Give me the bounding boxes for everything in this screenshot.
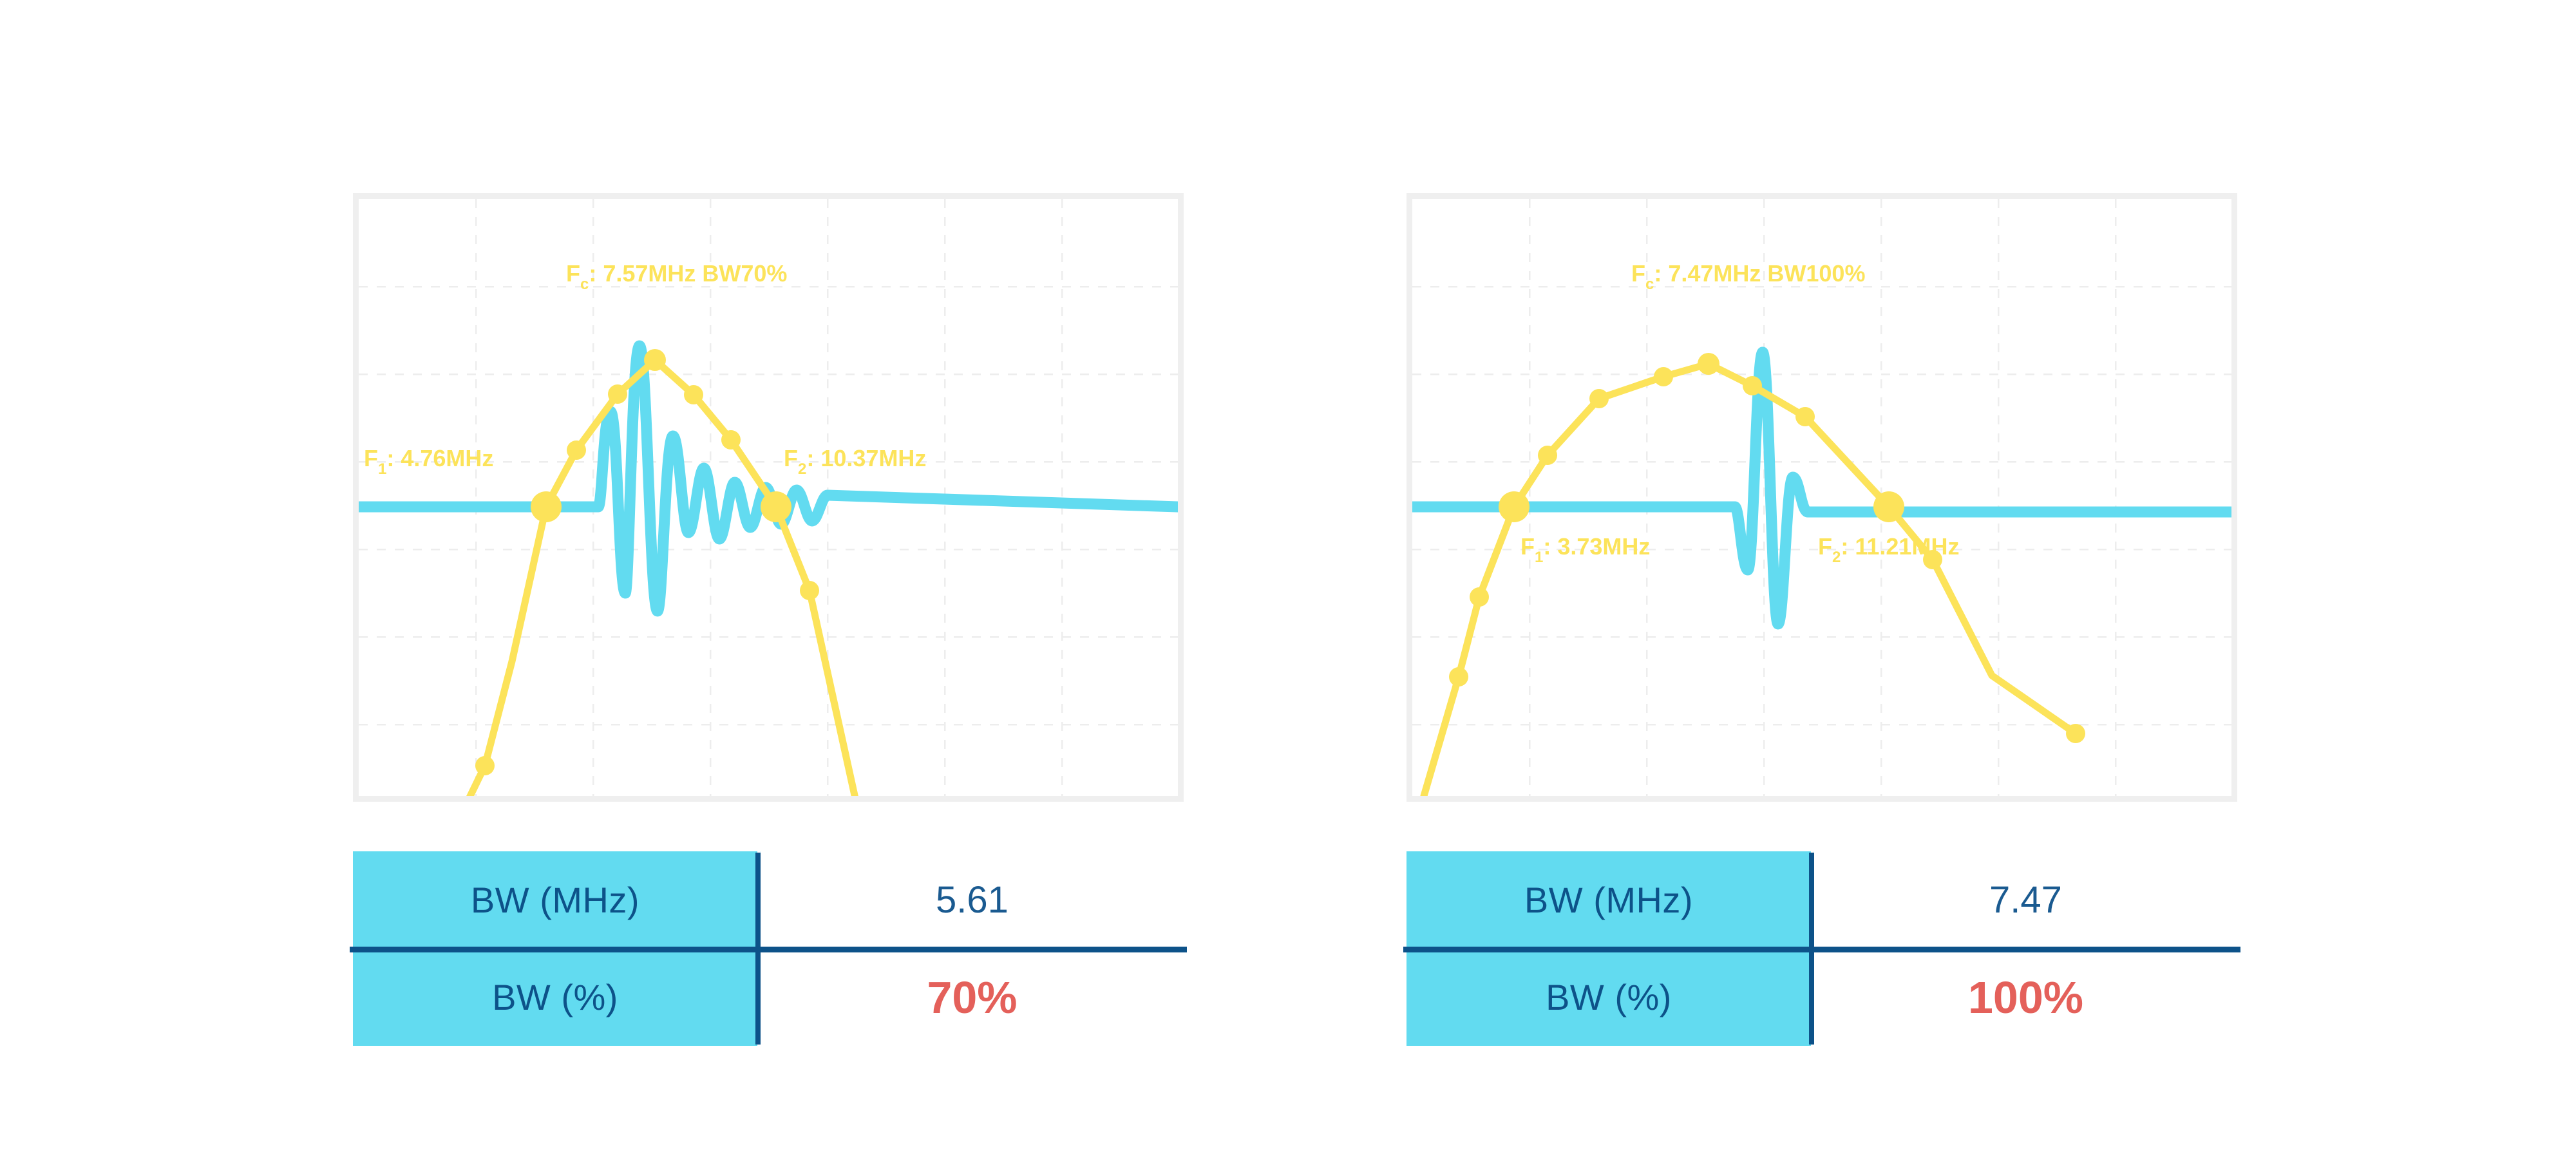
table-value-text: 5.61: [936, 878, 1009, 922]
table-label-text: BW (MHz): [471, 879, 639, 921]
table-row-divider: [1403, 947, 2240, 952]
table-row-label-bw-mhz: BW (MHz): [353, 851, 757, 949]
plot-frame-bw70: Fc: 7.57MHz BW70% F1: 4.76MHz F2: 10.37M…: [353, 193, 1184, 802]
grid-lines: [1412, 199, 2231, 796]
table-label-text: BW (%): [1546, 976, 1672, 1018]
table-value-highlight: 70%: [927, 972, 1017, 1023]
table-row-value-bw-mhz: 5.61: [761, 851, 1184, 949]
plot-svg-bw100: Fc: 7.47MHz BW100% F1: 3.73MHz F2: 11.21…: [1412, 199, 2231, 796]
annotation-f2-bw70: F2: 10.37MHz: [784, 445, 926, 478]
bw-table-bw70: BW (MHz) 5.61 BW (%) 70%: [353, 851, 1184, 1046]
table-row-value-bw-pct: 100%: [1814, 949, 2237, 1046]
table-label-text: BW (MHz): [1524, 879, 1693, 921]
table-row-value-bw-pct: 70%: [761, 949, 1184, 1046]
annotation-center-bw100: Fc: 7.47MHz BW100%: [1631, 260, 1865, 293]
table-value-highlight: 100%: [1968, 972, 2083, 1023]
annotation-f1-bw70: F1: 4.76MHz: [364, 445, 493, 478]
table-value-text: 7.47: [1989, 878, 2062, 922]
table-row-label-bw-pct: BW (%): [353, 949, 757, 1046]
plot-svg-bw70: Fc: 7.57MHz BW70% F1: 4.76MHz F2: 10.37M…: [359, 199, 1178, 796]
table-row-divider: [350, 947, 1187, 952]
table-row-label-bw-mhz: BW (MHz): [1406, 851, 1811, 949]
spectrum-trace-bw100: [1424, 364, 2076, 796]
annotation-f1-bw100: F1: 3.73MHz: [1520, 533, 1650, 566]
annotation-center-bw70: Fc: 7.57MHz BW70%: [566, 260, 787, 293]
bw-table-bw100: BW (MHz) 7.47 BW (%) 100%: [1406, 851, 2237, 1046]
panel-bw100: Fc: 7.47MHz BW100% F1: 3.73MHz F2: 11.21…: [1406, 193, 2237, 802]
chart-panels: Fc: 7.57MHz BW70% F1: 4.76MHz F2: 10.37M…: [0, 0, 2576, 1154]
table-label-text: BW (%): [492, 976, 618, 1018]
panel-bw70: Fc: 7.57MHz BW70% F1: 4.76MHz F2: 10.37M…: [353, 193, 1184, 802]
table-row-label-bw-pct: BW (%): [1406, 949, 1811, 1046]
waveform-trace-bw70: [359, 346, 1178, 611]
waveform-trace-bw100: [1412, 352, 2231, 624]
table-row-value-bw-mhz: 7.47: [1814, 851, 2237, 949]
plot-frame-bw100: Fc: 7.47MHz BW100% F1: 3.73MHz F2: 11.21…: [1406, 193, 2237, 802]
